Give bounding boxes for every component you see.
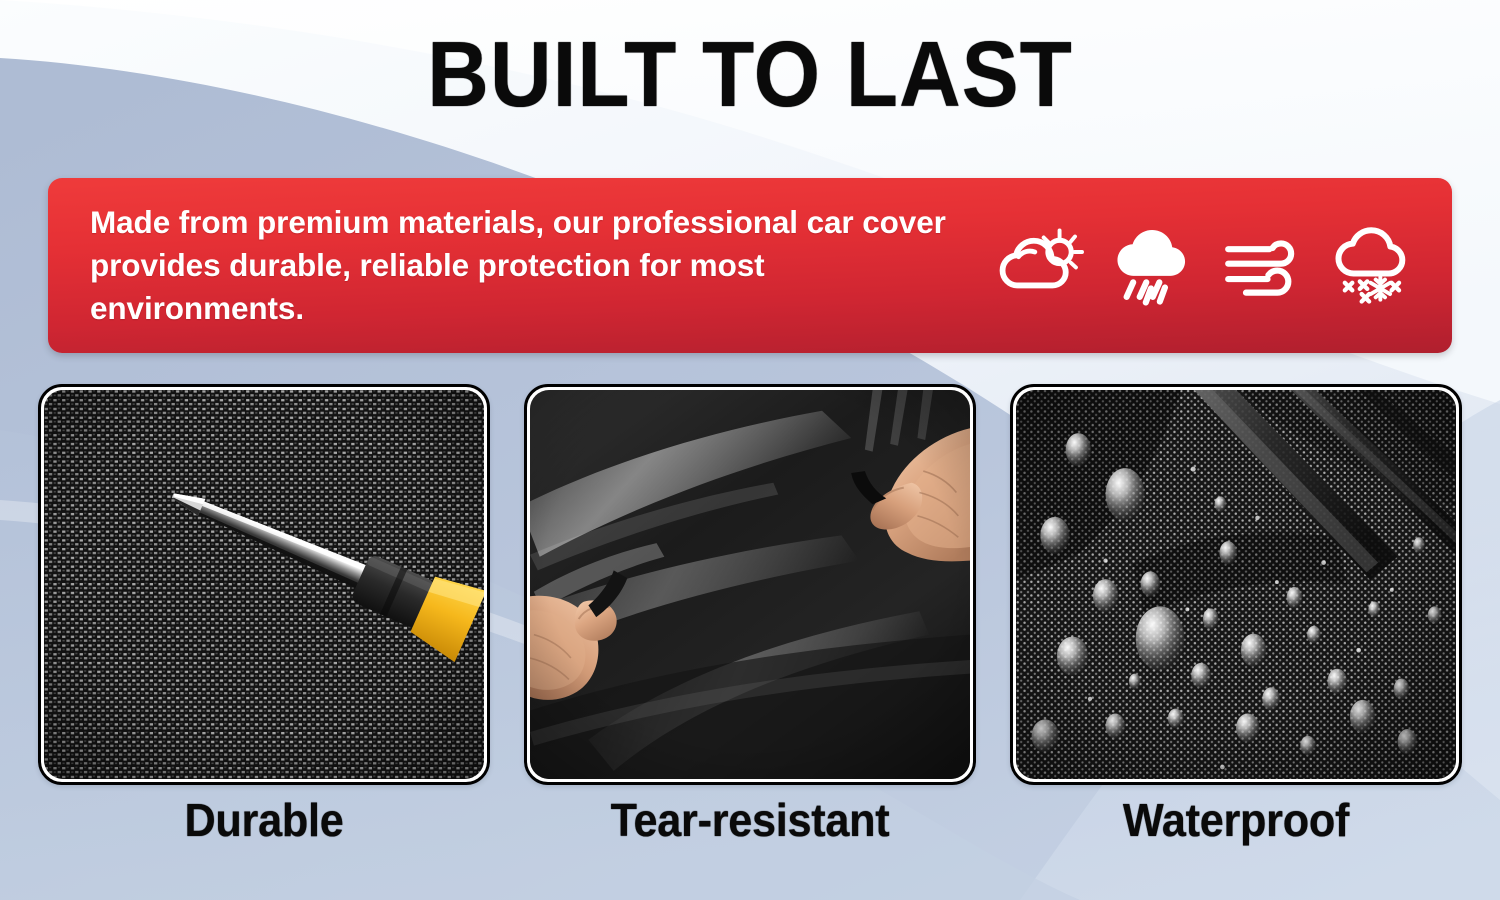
page-title: BUILT TO LAST (60, 26, 1440, 124)
feature-caption: Waterproof (1024, 796, 1449, 846)
sun-behind-cloud-icon (991, 223, 1087, 309)
feature-caption: Durable (52, 796, 477, 846)
banner-description: Made from premium materials, our profess… (48, 201, 978, 330)
hands-stretching-fabric-photo (530, 390, 970, 779)
wind-icon (1212, 223, 1308, 309)
headline-row: BUILT TO LAST (0, 26, 1500, 124)
feature-image-panel[interactable] (38, 384, 490, 785)
woven-fabric-with-screwdriver-photo (44, 390, 484, 779)
water-beading-fabric-photo (1016, 390, 1456, 779)
feature-waterproof: Waterproof (1010, 384, 1462, 846)
feature-durable: Durable (38, 384, 490, 846)
feature-panel-group: Durable (38, 384, 1462, 846)
snow-cloud-icon (1323, 223, 1419, 309)
feature-tear-resistant: Tear-resistant (524, 384, 976, 846)
weather-icon-group (978, 178, 1452, 353)
feature-caption: Tear-resistant (538, 796, 963, 846)
feature-image-panel[interactable] (524, 384, 976, 785)
promo-banner: Made from premium materials, our profess… (48, 178, 1452, 353)
rain-cloud-icon (1102, 223, 1198, 309)
feature-image-panel[interactable] (1010, 384, 1462, 785)
